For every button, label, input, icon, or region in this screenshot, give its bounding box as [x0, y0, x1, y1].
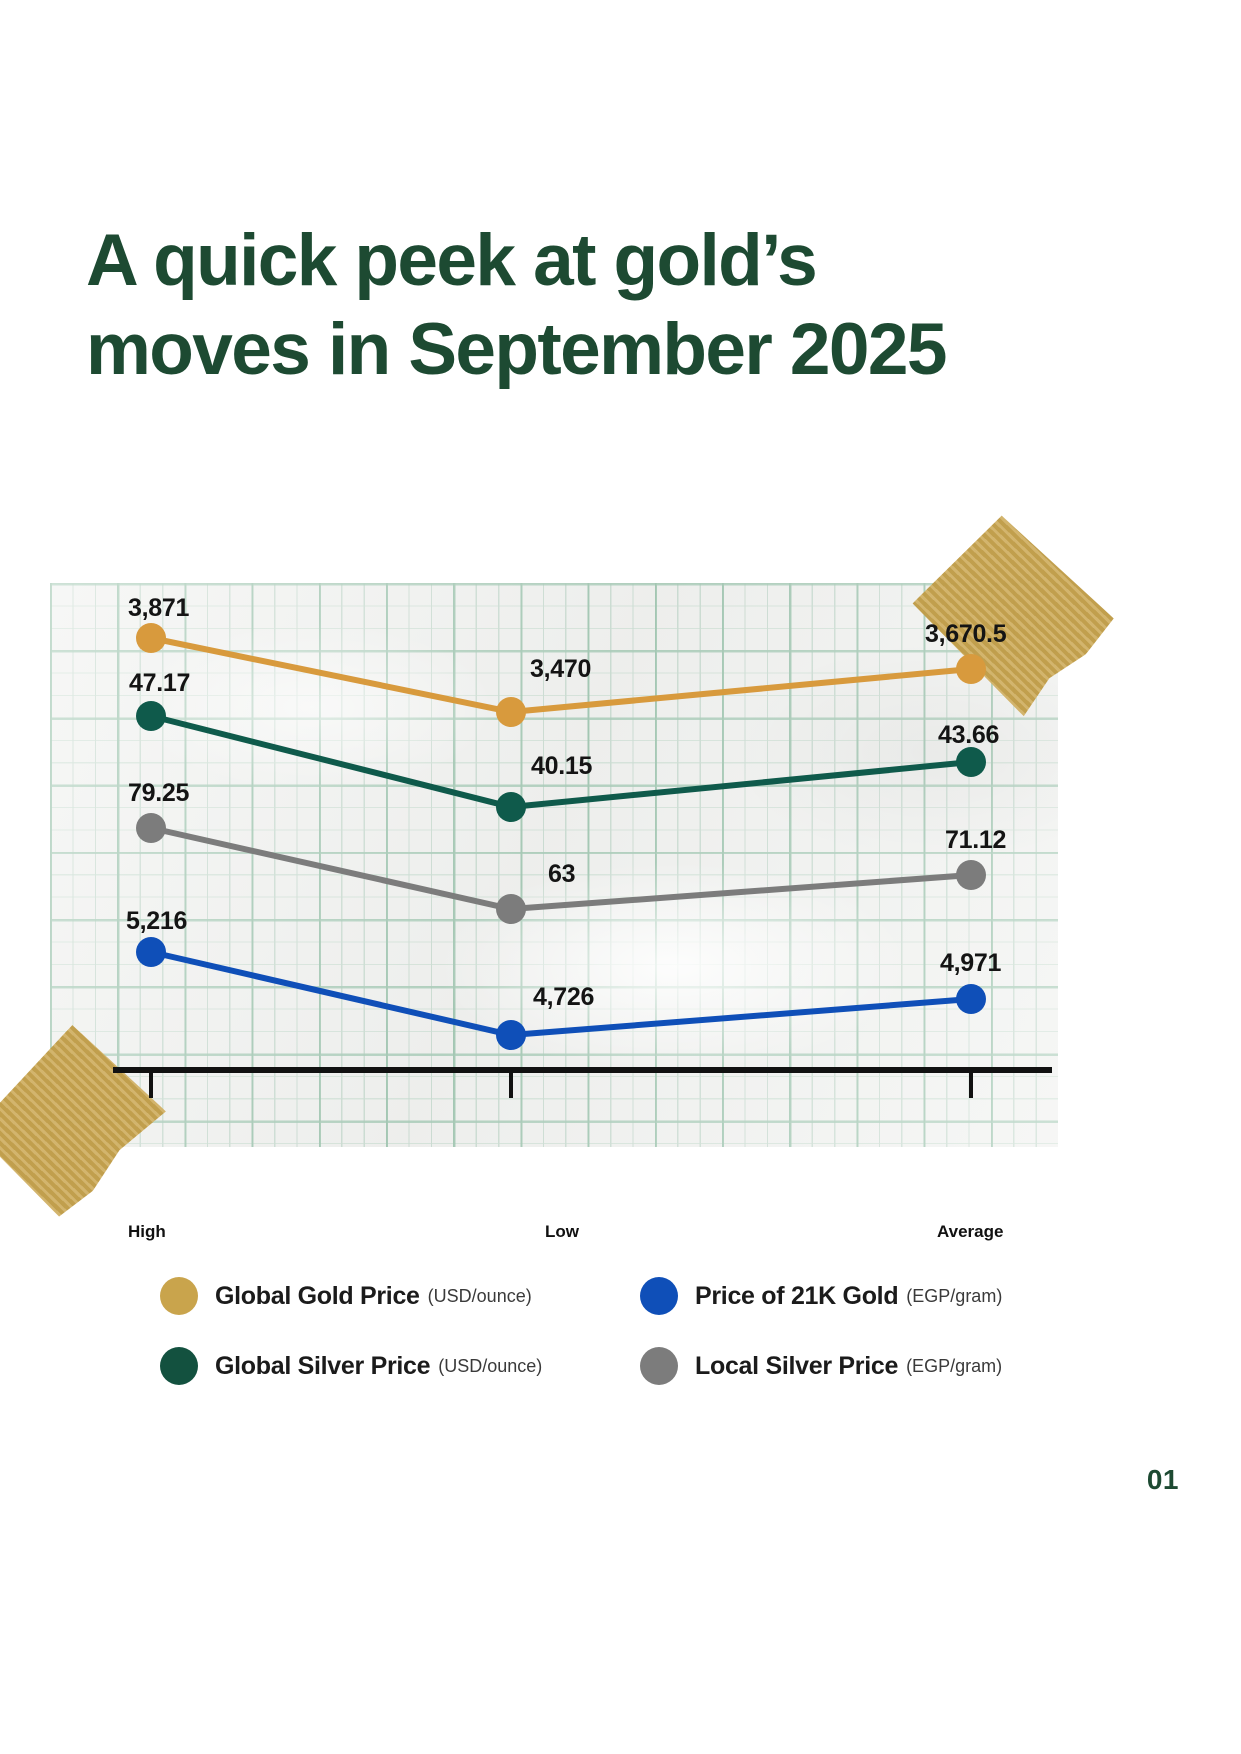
legend-item-global-silver-price[interactable]: Global Silver Price (USD/ounce): [160, 1347, 640, 1385]
page-number: 01: [1147, 1464, 1179, 1496]
data-point-gold-average: [956, 654, 986, 684]
legend-item-global-gold-price[interactable]: Global Gold Price (USD/ounce): [160, 1277, 640, 1315]
legend-unit-global-gold-price: (USD/ounce): [428, 1286, 532, 1307]
page-title-line-2: moves in September 2025: [86, 305, 1086, 394]
page-title: A quick peek at gold’s moves in Septembe…: [86, 216, 1086, 394]
data-point-21k-gold-average: [956, 984, 986, 1014]
data-point-gold-high: [136, 623, 166, 653]
data-label-21k-gold-low: 4,726: [533, 983, 594, 1012]
chart-legend: Global Gold Price (USD/ounce) Price of 2…: [160, 1277, 1040, 1385]
data-label-local-silver-high: 79.25: [128, 779, 189, 808]
data-point-global-silver-low: [496, 792, 526, 822]
data-label-global-silver-low: 40.15: [531, 752, 592, 781]
legend-dot-gold-icon: [160, 1277, 198, 1315]
data-label-gold-high: 3,871: [128, 594, 189, 623]
data-point-21k-gold-low: [496, 1020, 526, 1050]
data-label-local-silver-low: 63: [548, 860, 575, 889]
data-point-local-silver-high: [136, 813, 166, 843]
legend-dot-gray-icon: [640, 1347, 678, 1385]
data-label-global-silver-high: 47.17: [129, 669, 190, 698]
x-axis: [113, 1070, 1052, 1098]
legend-dot-blue-icon: [640, 1277, 678, 1315]
legend-dot-green-icon: [160, 1347, 198, 1385]
data-label-21k-gold-high: 5,216: [126, 907, 187, 936]
data-label-gold-low: 3,470: [530, 655, 591, 684]
data-label-local-silver-average: 71.12: [945, 826, 1006, 855]
page-title-line-1: A quick peek at gold’s: [86, 216, 1086, 305]
legend-label-local-silver-price: Local Silver Price: [695, 1352, 898, 1381]
data-point-21k-gold-high: [136, 937, 166, 967]
legend-label-global-silver-price: Global Silver Price: [215, 1352, 430, 1381]
data-label-global-silver-average: 43.66: [938, 721, 999, 750]
data-point-global-silver-average: [956, 747, 986, 777]
legend-label-global-gold-price: Global Gold Price: [215, 1282, 420, 1311]
legend-unit-local-silver-price: (EGP/gram): [906, 1356, 1002, 1377]
legend-unit-global-silver-price: (USD/ounce): [438, 1356, 542, 1377]
legend-item-price-of-21k-gold[interactable]: Price of 21K Gold (EGP/gram): [640, 1277, 1040, 1315]
legend-item-local-silver-price[interactable]: Local Silver Price (EGP/gram): [640, 1347, 1040, 1385]
data-label-gold-average: 3,670.5: [925, 620, 1006, 649]
data-point-local-silver-average: [956, 860, 986, 890]
x-axis-tick-label-low: Low: [545, 1222, 579, 1242]
data-point-gold-low: [496, 697, 526, 727]
legend-unit-price-of-21k-gold: (EGP/gram): [906, 1286, 1002, 1307]
data-label-21k-gold-average: 4,971: [940, 949, 1001, 978]
legend-label-price-of-21k-gold: Price of 21K Gold: [695, 1282, 898, 1311]
data-point-local-silver-low: [496, 894, 526, 924]
x-axis-tick-label-average: Average: [937, 1222, 1003, 1242]
data-point-global-silver-high: [136, 701, 166, 731]
x-axis-tick-label-high: High: [128, 1222, 166, 1242]
